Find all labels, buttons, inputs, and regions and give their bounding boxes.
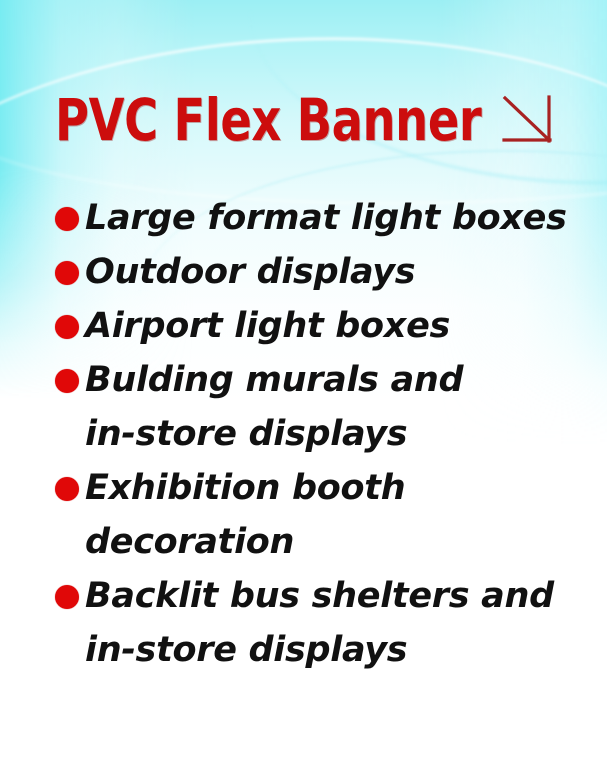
list-item-continuation-label: in-store displays: [85, 630, 407, 671]
list-item-label: Backlit bus shelters and: [85, 576, 554, 617]
list-item-label: Large format light boxes: [85, 198, 567, 239]
list-item-continuation-label: in-store displays: [85, 414, 407, 455]
pvc-flex-banner-poster: PVC Flex Banner Large format light boxes…: [0, 0, 607, 766]
list-item-label: Bulding murals and: [85, 360, 463, 401]
list-item-continuation: in-store displays: [55, 630, 585, 671]
bullet-dot-icon: [55, 207, 79, 231]
arrow-down-right-icon: [502, 95, 556, 145]
list-item: Large format light boxes: [55, 198, 585, 239]
title-row: PVC Flex Banner: [55, 92, 556, 148]
bullet-dot-icon: [55, 477, 79, 501]
bullet-dot-icon: [55, 585, 79, 609]
list-item-label: Airport light boxes: [85, 306, 450, 347]
bullet-dot-icon: [55, 315, 79, 339]
feature-list: Large format light boxes Outdoor display…: [55, 198, 585, 684]
bullet-dot-icon: [55, 261, 79, 285]
list-item: Exhibition booth: [55, 468, 585, 509]
list-item: Outdoor displays: [55, 252, 585, 293]
list-item-label: Exhibition booth: [85, 468, 405, 509]
list-item: Airport light boxes: [55, 306, 585, 347]
list-item-continuation-label: decoration: [85, 522, 294, 563]
bullet-dot-icon: [55, 369, 79, 393]
list-item-label: Outdoor displays: [85, 252, 415, 293]
list-item: Bulding murals and: [55, 360, 585, 401]
list-item: Backlit bus shelters and: [55, 576, 585, 617]
list-item-continuation: decoration: [55, 522, 585, 563]
list-item-continuation: in-store displays: [55, 414, 585, 455]
page-title: PVC Flex Banner: [55, 92, 481, 148]
